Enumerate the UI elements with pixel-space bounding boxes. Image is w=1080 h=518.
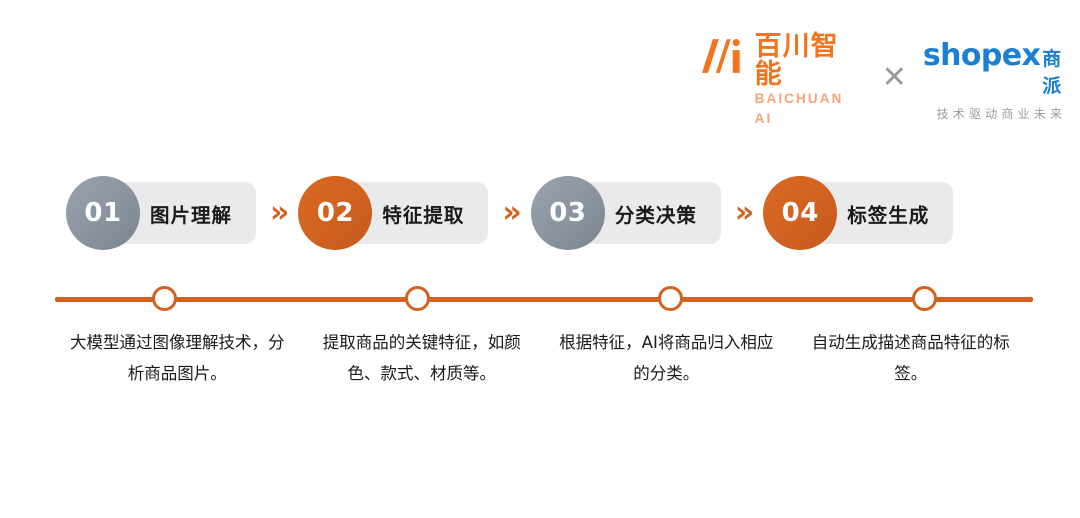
- step-description: 大模型通过图像理解技术，分析商品图片。: [55, 328, 300, 389]
- timeline-track: [55, 297, 1033, 302]
- chevron-right-icon: »: [502, 198, 516, 228]
- timeline-marker: [912, 286, 937, 311]
- chevron-right-icon: »: [735, 198, 749, 228]
- cross-separator-icon: ✕: [882, 63, 907, 93]
- step-number-badge: 02: [298, 176, 372, 250]
- shopex-wordmark: shopex 商派: [923, 41, 1080, 98]
- step-number-badge: 01: [66, 176, 140, 250]
- baichuan-en-name: BAICHUAN AI: [755, 89, 866, 130]
- shopex-logo: shopex 商派 技术驱动商业未来: [923, 41, 1080, 122]
- timeline-marker: [405, 286, 430, 311]
- step-item: 02 特征提取: [298, 176, 488, 250]
- shopex-tagline: 技术驱动商业未来: [937, 105, 1067, 122]
- chevron-right-icon: »: [270, 198, 284, 228]
- step-flow: 01 图片理解 » 02 特征提取 » 03 分类决策 » 04 标签生成: [66, 176, 1020, 250]
- timeline-marker: [658, 286, 683, 311]
- slide-canvas: 百川智能 BAICHUAN AI ✕ shopex 商派 技术驱动商业未来 01…: [0, 0, 1080, 518]
- step-description: 自动生成描述商品特征的标签。: [789, 328, 1034, 389]
- step-item: 03 分类决策: [531, 176, 721, 250]
- step-item: 04 标签生成: [763, 176, 953, 250]
- baichuan-cn-name: 百川智能: [755, 33, 866, 88]
- shopex-en-name: shopex: [923, 41, 1040, 71]
- step-descriptions: 大模型通过图像理解技术，分析商品图片。 提取商品的关键特征，如颜色、款式、材质等…: [55, 328, 1033, 389]
- baichuan-wordmark: 百川智能 BAICHUAN AI: [755, 33, 866, 130]
- shopex-cn-name: 商派: [1042, 44, 1080, 98]
- step-number-badge: 04: [763, 176, 837, 250]
- baichuan-logo: 百川智能 BAICHUAN AI: [700, 33, 866, 130]
- baichuan-mark-icon: [700, 33, 746, 79]
- step-number-badge: 03: [531, 176, 605, 250]
- timeline-marker: [152, 286, 177, 311]
- step-item: 01 图片理解: [66, 176, 256, 250]
- timeline: [55, 286, 1033, 312]
- step-description: 根据特征，AI将商品归入相应的分类。: [544, 328, 789, 389]
- step-description: 提取商品的关键特征，如颜色、款式、材质等。: [300, 328, 545, 389]
- logo-lockup: 百川智能 BAICHUAN AI ✕ shopex 商派 技术驱动商业未来: [700, 33, 1080, 130]
